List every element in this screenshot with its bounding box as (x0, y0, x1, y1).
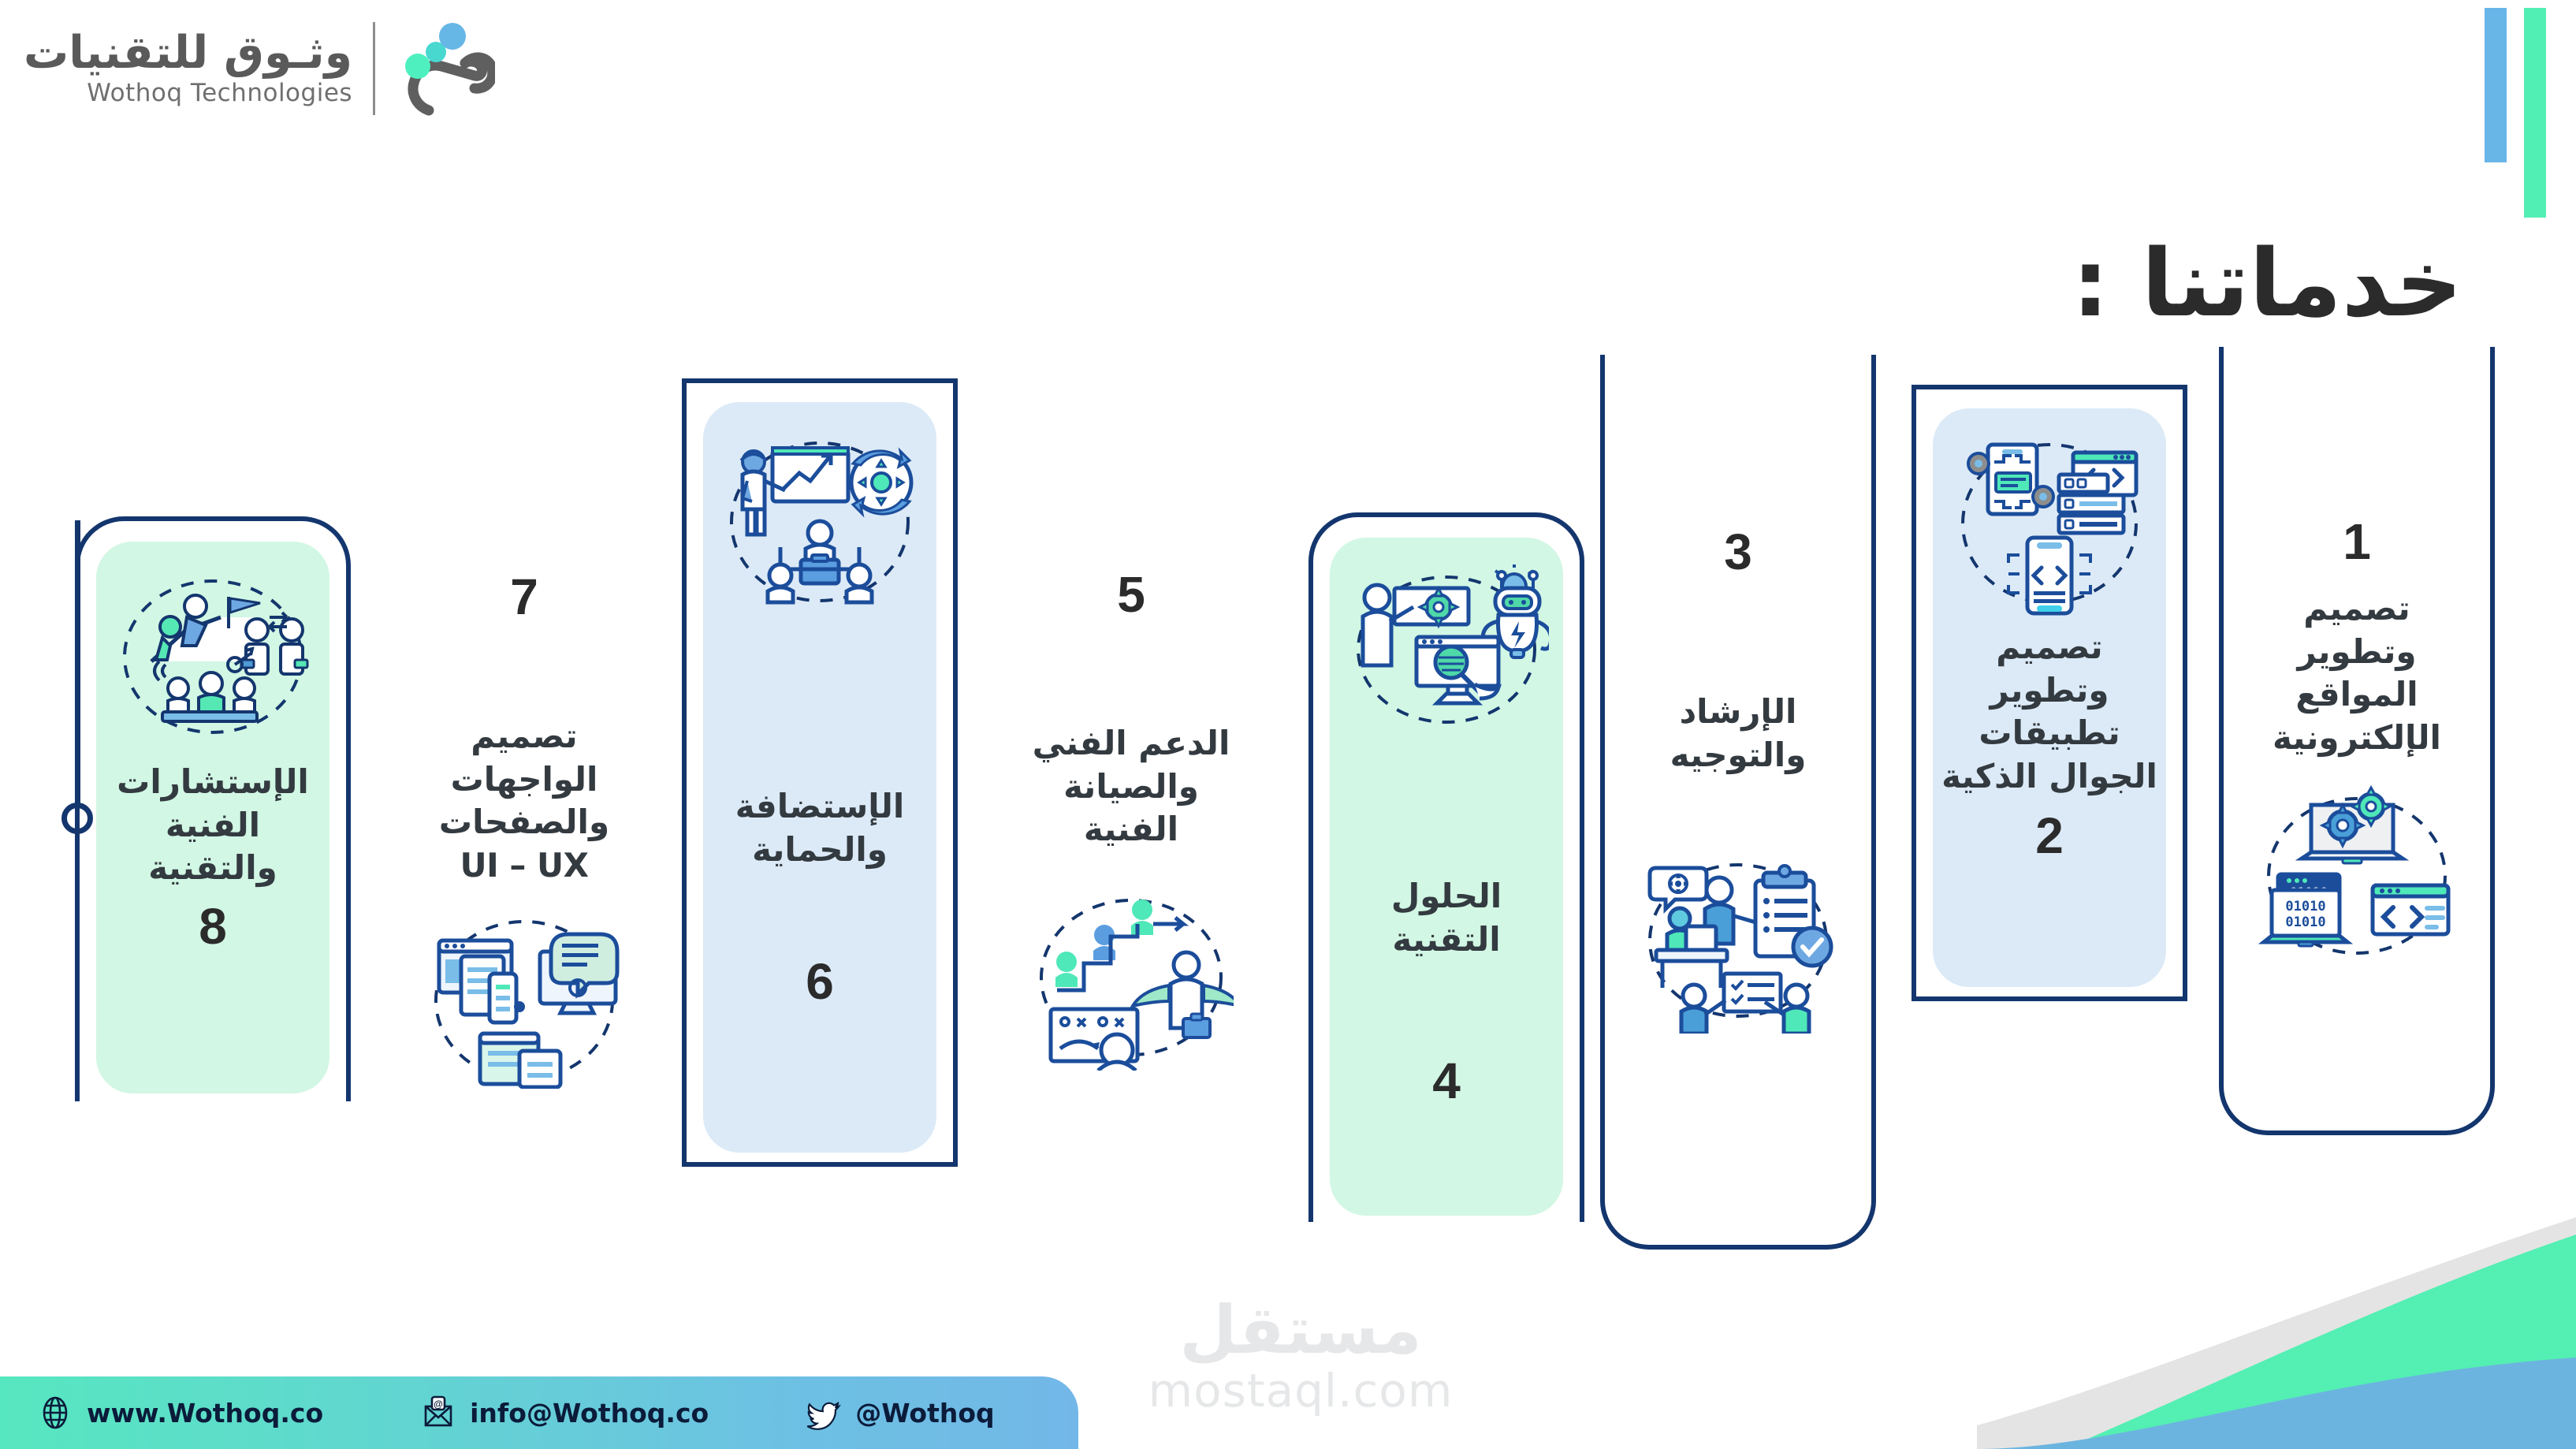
footer-website[interactable]: www.Wothoq.co (38, 1395, 323, 1430)
watermark-english: mostaql.com (1148, 1368, 1454, 1414)
service-card-8[interactable]: الإستشارات الفنية والتقنية 8 (75, 516, 351, 1101)
mostaql-watermark: مستقل mostaql.com (1092, 1297, 1509, 1414)
service-label-6: الإستضافة والحماية (714, 785, 925, 871)
service-card-3[interactable]: 3 الإرشاد والتوجيه (1600, 355, 1876, 1250)
mobile-server-code-icon (1947, 435, 2152, 616)
service-panel-3: 3 الإرشاد والتوجيه (1621, 355, 1855, 1034)
service-card-5[interactable]: 5 الدعم الفني والصيانة الفنية (993, 569, 1269, 1071)
logo-divider (373, 22, 375, 115)
consulting-team-icon (110, 568, 315, 750)
service-label-4: الحلول التقنية (1343, 875, 1550, 961)
service-card-2[interactable]: تصميم وتطوير تطبيقات الجوال الذكية 2 (1912, 385, 2187, 1001)
mentoring-checklist-icon (1636, 852, 1841, 1034)
service-label-1: تصميم وتطوير المواقع الإلكترونية (2254, 587, 2459, 759)
service-number-7: 7 (510, 572, 538, 622)
logo-text-block: وثـوق للتقنيات Wothoq Technologies (24, 29, 373, 108)
service-card-1[interactable]: 1 تصميم وتطوير المواقع الإلكترونية 0 (2219, 347, 2495, 1135)
service-number-1: 1 (2343, 516, 2371, 567)
svg-text:01010: 01010 (2285, 914, 2325, 930)
logo-arabic-name: وثـوق للتقنيات (24, 29, 352, 76)
footer-email[interactable]: @ info@Wothoq.co (421, 1395, 709, 1430)
laptop-code-icon: 01010 10101 01010 01010 (2254, 783, 2459, 964)
service-number-4: 4 (1432, 1056, 1461, 1106)
service-card-4[interactable]: الحلول التقنية 4 (1308, 512, 1584, 1222)
service-number-3: 3 (1724, 527, 1752, 577)
service-label-7: تصميم الواجهات والصفحات UI – UX (418, 715, 631, 887)
globe-icon (38, 1395, 73, 1430)
footer-website-text: www.Wothoq.co (87, 1398, 323, 1429)
header-bar-green (2524, 8, 2546, 218)
infographic-canvas: وثـوق للتقنيات Wothoq Technologies خدمات… (0, 0, 2576, 1449)
service-card-6[interactable]: الإستضافة والحماية 6 (682, 378, 958, 1167)
service-panel-1: 1 تصميم وتطوير المواقع الإلكترونية 0 (2240, 347, 2474, 964)
header-accent-bars (2485, 8, 2546, 218)
service-panel-8: الإستشارات الفنية والتقنية 8 (96, 542, 329, 1093)
footer-twitter-text: @Wothoq (855, 1398, 994, 1429)
contact-footer: www.Wothoq.co @ info@Wothoq.co @Wothoq (0, 1376, 1078, 1449)
robot-solutions-icon (1344, 564, 1549, 746)
footer-twitter[interactable]: @Wothoq (806, 1395, 994, 1430)
decorative-waves (1977, 1189, 2576, 1449)
service-label-3: الإرشاد والتوجيه (1628, 691, 1848, 777)
twitter-bird-icon (806, 1395, 841, 1430)
hosting-gear-icon (717, 429, 922, 610)
service-number-5: 5 (1117, 569, 1145, 620)
service-panel-2: تصميم وتطوير تطبيقات الجوال الذكية 2 (1933, 408, 2166, 987)
support-growth-icon (1029, 889, 1234, 1071)
company-logo: وثـوق للتقنيات Wothoq Technologies (24, 17, 495, 120)
service-label-2: تصميم وتطوير تطبيقات الجوال الذكية (1934, 626, 2165, 798)
envelope-icon: @ (421, 1395, 456, 1430)
page-title: خدماتنا : (2072, 237, 2462, 330)
watermark-arabic: مستقل (1179, 1297, 1421, 1363)
service-number-2: 2 (2035, 810, 2064, 861)
service-panel-7: 7 تصميم الواجهات والصفحات UI – UX (408, 572, 641, 1089)
wothoq-logo-mark-icon (393, 17, 495, 120)
ui-ux-screens-icon (422, 907, 627, 1089)
page-header: خدماتنا : (2072, 0, 2546, 331)
header-bar-blue (2485, 8, 2507, 162)
service-label-5: الدعم الفني والصيانة الفنية (1021, 722, 1241, 851)
service-panel-5: 5 الدعم الفني والصيانة الفنية (1014, 569, 1248, 1071)
service-card-7[interactable]: 7 تصميم الواجهات والصفحات UI – UX (386, 572, 662, 1089)
svg-text:@: @ (434, 1399, 443, 1410)
footer-email-text: info@Wothoq.co (470, 1398, 709, 1429)
service-number-6: 6 (806, 956, 834, 1007)
logo-english-name: Wothoq Technologies (87, 80, 352, 108)
service-panel-4: الحلول التقنية 4 (1330, 538, 1563, 1216)
service-panel-6: الإستضافة والحماية 6 (703, 402, 936, 1153)
service-label-8: الإستشارات الفنية والتقنية (110, 761, 316, 890)
page-title-wrap: خدماتنا : (2072, 0, 2462, 331)
service-number-8: 8 (199, 901, 227, 952)
svg-text:01010: 01010 (2285, 899, 2325, 914)
